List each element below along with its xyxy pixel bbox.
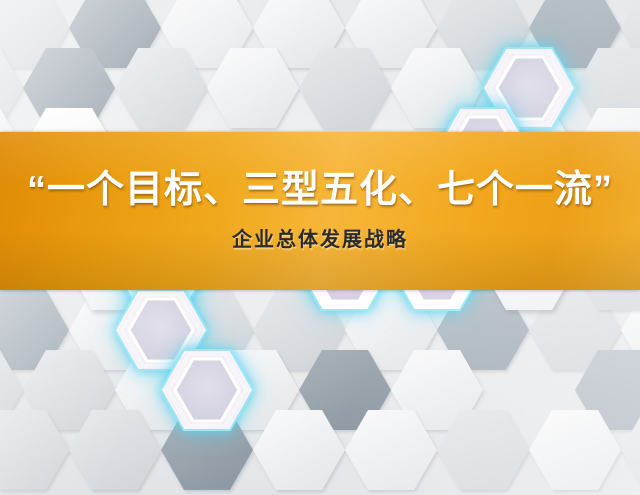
title-banner-content: “一个目标、三型五化、七个一流” 企业总体发展战略 [0, 132, 640, 290]
page-subtitle: 企业总体发展战略 [232, 228, 408, 252]
page-title: “一个目标、三型五化、七个一流” [27, 170, 613, 211]
title-banner: “一个目标、三型五化、七个一流” 企业总体发展战略 [0, 132, 640, 290]
title-slide: “一个目标、三型五化、七个一流” 企业总体发展战略 [0, 0, 640, 495]
